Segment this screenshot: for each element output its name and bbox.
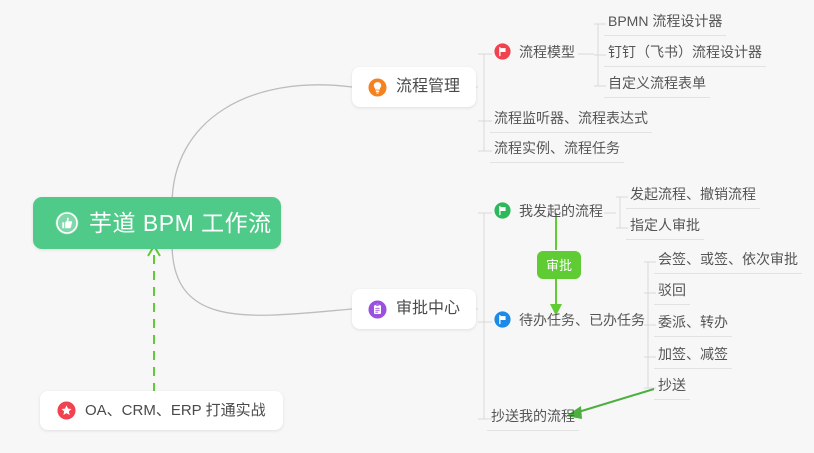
node-my-initiated[interactable]: 我发起的流程 — [490, 201, 607, 225]
star-icon — [57, 401, 76, 420]
node-label-todo-done-tasks: 待办任务、已办任务 — [519, 313, 645, 327]
root-node[interactable]: 芋道 BPM 工作流 — [33, 197, 281, 249]
connector-root-to-approval-center — [172, 243, 352, 315]
thumbs-up-icon — [55, 211, 79, 235]
branch-node-process-management[interactable]: 流程管理 — [352, 67, 476, 107]
leaf-reject[interactable]: 驳回 — [654, 281, 690, 305]
leaf-label: BPMN 流程设计器 — [608, 14, 722, 28]
flag-icon — [494, 43, 511, 60]
leaf-label: 会签、或签、依次审批 — [658, 252, 798, 266]
flag-icon — [494, 311, 511, 328]
leaf-countersign[interactable]: 会签、或签、依次审批 — [654, 250, 802, 274]
lightbulb-icon — [368, 78, 387, 97]
leaf-label: 委派、转办 — [658, 315, 728, 329]
leaf-cc[interactable]: 抄送 — [654, 376, 690, 400]
node-label-process-model: 流程模型 — [519, 45, 575, 59]
leaf-dingtalk-designer[interactable]: 钉钉（飞书）流程设计器 — [604, 43, 766, 67]
annotation-arrow-cc — [575, 389, 654, 413]
leaf-custom-form[interactable]: 自定义流程表单 — [604, 74, 710, 98]
leaf-label: 指定人审批 — [630, 218, 700, 232]
leaf-label: 抄送 — [658, 378, 686, 392]
leaf-label: 驳回 — [658, 283, 686, 297]
node-process-instance[interactable]: 流程实例、流程任务 — [490, 139, 624, 163]
leaf-label: 钉钉（飞书）流程设计器 — [608, 45, 762, 59]
node-label: 抄送我的流程 — [491, 409, 575, 423]
leaf-delegate-transfer[interactable]: 委派、转办 — [654, 313, 732, 337]
leaf-add-remove-sign[interactable]: 加签、减签 — [654, 345, 732, 369]
leaf-label: 发起流程、撤销流程 — [630, 187, 756, 201]
leaf-bpmn-designer[interactable]: BPMN 流程设计器 — [604, 12, 726, 36]
root-label: 芋道 BPM 工作流 — [89, 212, 272, 235]
annotation-badge-approval: 审批 — [537, 251, 581, 279]
leaf-label: 自定义流程表单 — [608, 76, 706, 90]
mindmap-canvas: 芋道 BPM 工作流 流程管理 流程模型 BPMN 流程设计器 钉钉（飞书）流程 — [0, 0, 814, 453]
branch-label-process-management: 流程管理 — [396, 79, 460, 95]
node-label: 流程监听器、流程表达式 — [494, 111, 648, 125]
clipboard-icon — [368, 300, 387, 319]
branch-label-approval-center: 审批中心 — [396, 301, 460, 317]
branch-node-approval-center[interactable]: 审批中心 — [352, 289, 476, 329]
node-label: 流程实例、流程任务 — [494, 141, 620, 155]
leaf-assignee-approval[interactable]: 指定人审批 — [626, 216, 704, 240]
flag-icon — [494, 202, 511, 219]
node-process-model[interactable]: 流程模型 — [490, 42, 579, 66]
node-todo-done-tasks[interactable]: 待办任务、已办任务 — [490, 310, 649, 334]
leaf-label: 加签、减签 — [658, 347, 728, 361]
annotation-badge-label: 审批 — [546, 259, 572, 272]
footnote-node[interactable]: OA、CRM、ERP 打通实战 — [40, 391, 283, 430]
node-cc-my-process[interactable]: 抄送我的流程 — [487, 407, 579, 431]
connector-root-to-process-management — [172, 85, 352, 205]
footnote-label: OA、CRM、ERP 打通实战 — [85, 403, 266, 418]
node-label-my-initiated: 我发起的流程 — [519, 204, 603, 218]
node-process-listener[interactable]: 流程监听器、流程表达式 — [490, 109, 652, 133]
leaf-start-cancel-process[interactable]: 发起流程、撤销流程 — [626, 185, 760, 209]
